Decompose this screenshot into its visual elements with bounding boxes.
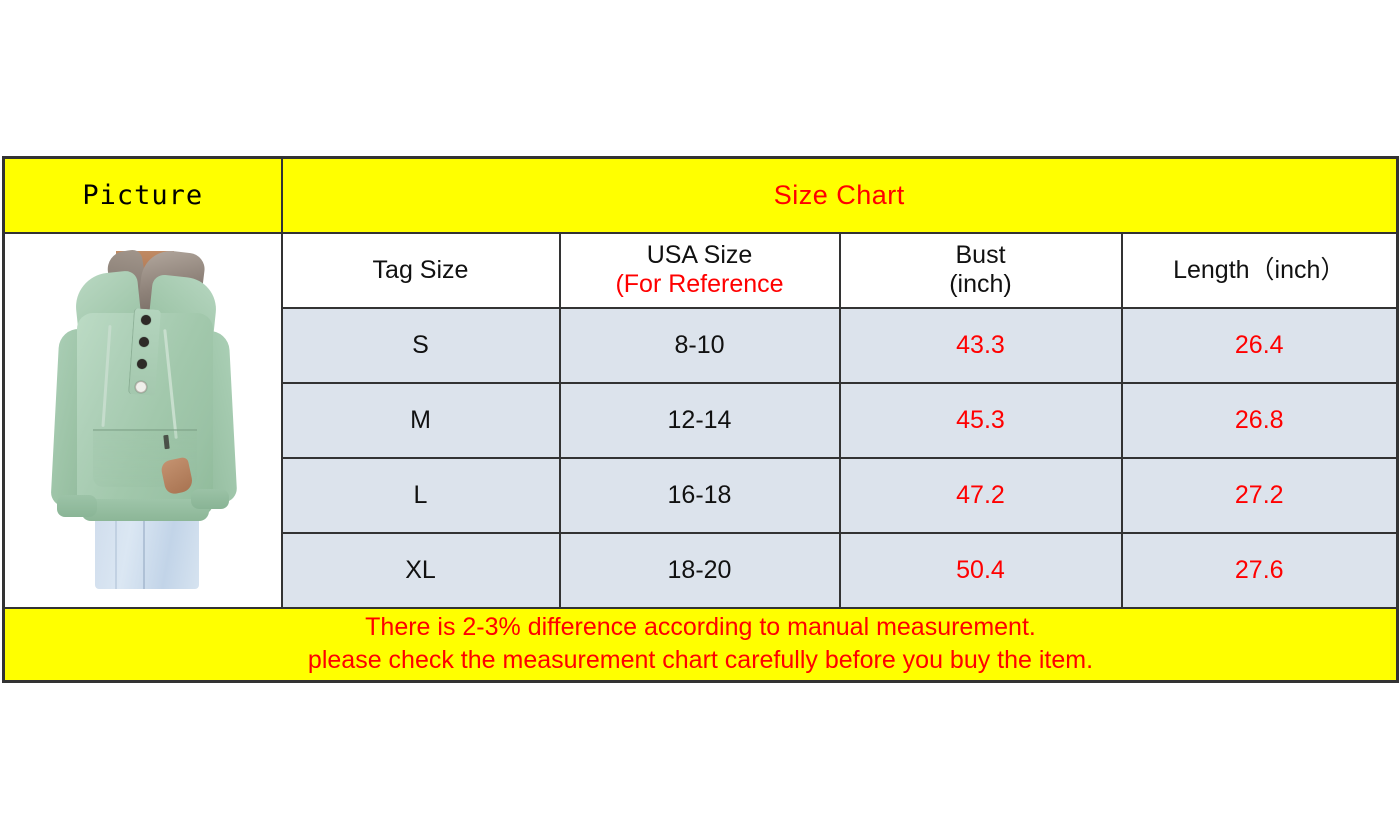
header-bust-unit: (inch) [841,270,1121,299]
button-3 [137,359,147,369]
button-1 [141,315,151,325]
picture-header-cell: Picture [4,158,282,233]
size-chart-title-cell: Size Chart [282,158,1398,233]
product-photo [5,234,281,607]
cell-length: 27.6 [1122,533,1398,608]
cell-usa-size: 18-20 [560,533,840,608]
hoodie-hem [81,499,209,521]
cell-bust: 45.3 [840,383,1122,458]
cell-length: 26.4 [1122,308,1398,383]
note-line-2: please check the measurement chart caref… [5,644,1396,677]
size-chart-container: Picture Size Chart [2,156,1396,682]
cell-tag-size: L [282,458,560,533]
size-chart-table: Picture Size Chart [2,156,1399,683]
header-usa-size-sublabel: (For Reference [561,270,839,299]
cell-usa-size: 12-14 [560,383,840,458]
cell-tag-size: XL [282,533,560,608]
cell-length: 27.2 [1122,458,1398,533]
header-length: Length（inch） [1122,233,1398,308]
banner-row: Picture Size Chart [4,158,1398,233]
cell-length: 26.8 [1122,383,1398,458]
button-4 [135,381,147,393]
measurement-note-cell: There is 2-3% difference according to ma… [4,608,1398,682]
model-illustration [43,251,243,589]
header-usa-size-label: USA Size [561,241,839,270]
size-chart-title: Size Chart [774,180,905,210]
header-tag-size: Tag Size [282,233,560,308]
cuff-right [191,489,229,509]
header-bust: Bust (inch) [840,233,1122,308]
header-length-label: Length（inch） [1123,256,1397,285]
header-bust-label: Bust [841,241,1121,270]
header-tag-size-label: Tag Size [283,256,559,285]
note-row: There is 2-3% difference according to ma… [4,608,1398,682]
cuff-left [57,495,97,517]
cell-tag-size: S [282,308,560,383]
column-header-row: Tag Size USA Size (For Reference Bust (i… [4,233,1398,308]
cell-bust: 43.3 [840,308,1122,383]
header-usa-size: USA Size (For Reference [560,233,840,308]
cell-usa-size: 16-18 [560,458,840,533]
note-line-1: There is 2-3% difference according to ma… [5,611,1396,644]
cell-bust: 50.4 [840,533,1122,608]
product-image-cell [4,233,282,608]
button-2 [139,337,149,347]
cell-tag-size: M [282,383,560,458]
cell-usa-size: 8-10 [560,308,840,383]
picture-label: Picture [82,180,203,211]
cell-bust: 47.2 [840,458,1122,533]
